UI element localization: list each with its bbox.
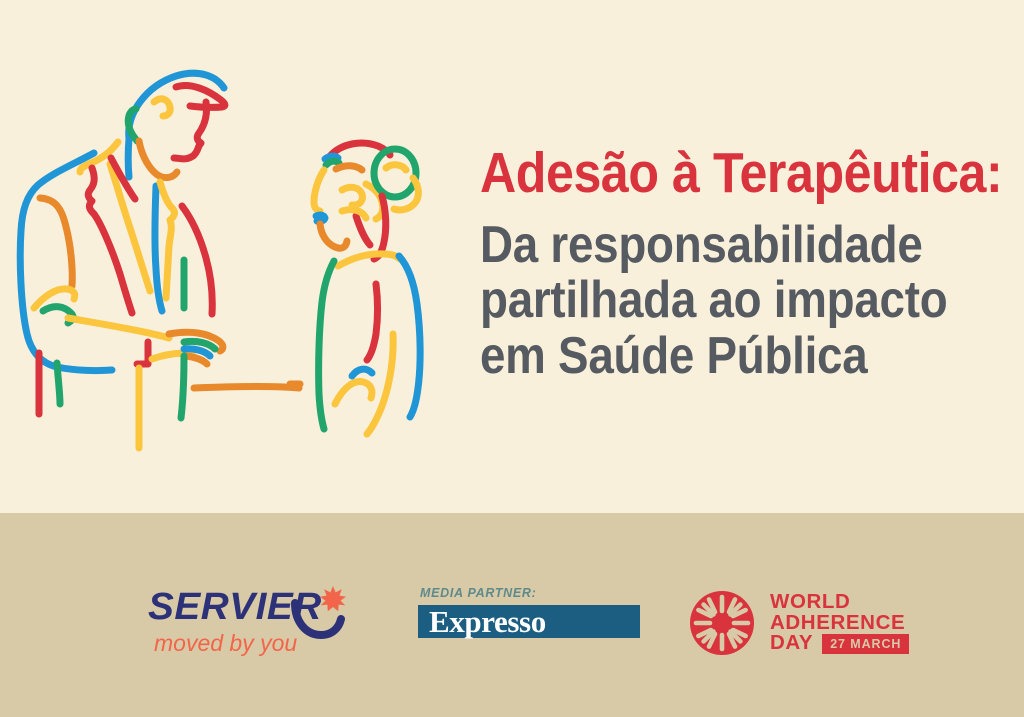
subtitle-line-2: partilhada ao impacto: [480, 273, 938, 329]
expresso-logo: Expresso: [418, 605, 640, 638]
media-partner-label: MEDIA PARTNER:: [420, 586, 640, 600]
servier-logo: SERVIER moved by you: [148, 588, 363, 658]
world-adherence-day-text: WORLD ADHERENCE DAY 27 MARCH: [770, 592, 909, 655]
wad-date-badge: 27 MARCH: [822, 634, 909, 655]
wad-last-row: DAY 27 MARCH: [770, 633, 909, 654]
media-partner-block: MEDIA PARTNER: Expresso: [418, 586, 640, 638]
wad-line-adherence: ADHERENCE: [770, 613, 909, 634]
subtitle-line-3: em Saúde Pública: [480, 329, 938, 385]
servier-star-icon: [320, 586, 346, 612]
doctor-patient-illustration: [0, 46, 464, 506]
page-title: Adesão à Terapêutica:: [480, 146, 938, 202]
wad-line-day: DAY: [770, 633, 813, 654]
hero-section: Adesão à Terapêutica: Da responsabilidad…: [0, 0, 1024, 513]
poster-canvas: Adesão à Terapêutica: Da responsabilidad…: [0, 0, 1024, 717]
expresso-wordmark: Expresso: [418, 606, 546, 637]
wad-line-world: WORLD: [770, 592, 909, 613]
servier-tagline: moved by you: [154, 632, 297, 655]
subtitle-line-1: Da responsabilidade: [480, 218, 938, 274]
headline-block: Adesão à Terapêutica: Da responsabilidad…: [480, 146, 1000, 385]
page-subtitle: Da responsabilidade partilhada ao impact…: [480, 218, 938, 385]
world-adherence-day-logo: WORLD ADHERENCE DAY 27 MARCH: [688, 589, 909, 657]
sunburst-icon: [688, 589, 756, 657]
